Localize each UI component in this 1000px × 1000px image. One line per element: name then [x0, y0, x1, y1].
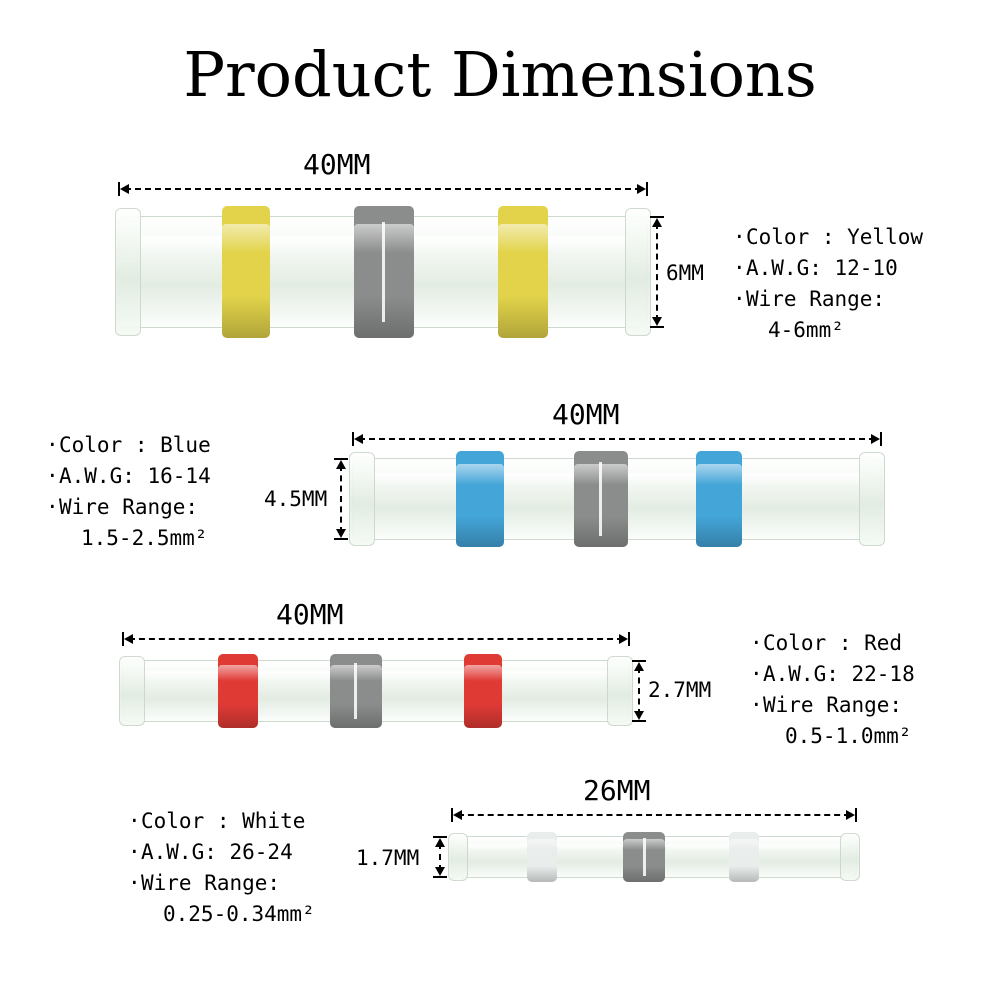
yellow-band-right: [498, 206, 548, 338]
spec-blue-wire-range-label: Wire Range:: [59, 495, 198, 519]
bullet-icon: ·: [46, 492, 59, 523]
blue-center-seam: [599, 462, 602, 536]
bullet-icon: ·: [750, 690, 763, 721]
bullet-icon: ·: [128, 837, 141, 868]
spec-yellow-color: Color : Yellow: [746, 225, 923, 249]
white-band-left: [527, 832, 557, 882]
blue-left-flare: [349, 452, 375, 545]
connector-red: [122, 660, 630, 722]
spec-white-wire-range-label: Wire Range:: [141, 871, 280, 895]
spec-blue-awg: A.W.G: 16-14: [59, 464, 211, 488]
white-length-label: 26MM: [583, 774, 650, 807]
spec-yellow-wire-range-value: 4-6mm²: [768, 318, 844, 342]
bullet-icon: ·: [46, 430, 59, 461]
blue-length-measure: [352, 432, 882, 446]
spec-red-awg: A.W.G: 22-18: [763, 662, 915, 686]
red-right-flare: [607, 656, 633, 727]
spec-yellow: ·Color : Yellow ·A.W.G: 12-10 ·Wire Rang…: [733, 222, 923, 346]
yellow-band-left: [222, 206, 270, 338]
blue-band-right: [696, 451, 742, 548]
bullet-icon: ·: [750, 659, 763, 690]
bullet-icon: ·: [128, 868, 141, 899]
red-length-label: 40MM: [276, 598, 343, 631]
white-left-flare: [448, 833, 468, 881]
spec-blue-wire-range-value: 1.5-2.5mm²: [81, 526, 207, 550]
spec-red-wire-range-value: 0.5-1.0mm²: [785, 724, 911, 748]
blue-band-left: [456, 451, 504, 548]
white-diameter-label: 1.7MM: [356, 846, 419, 870]
bullet-icon: ·: [750, 628, 763, 659]
connector-white: [451, 836, 857, 878]
spec-yellow-awg: A.W.G: 12-10: [746, 256, 898, 280]
yellow-diameter-label: 6MM: [666, 261, 704, 285]
blue-diameter-label: 4.5MM: [264, 487, 327, 511]
red-band-right: [464, 654, 502, 727]
blue-right-flare: [859, 452, 885, 545]
spec-red: ·Color : Red ·A.W.G: 22-18 ·Wire Range: …: [750, 628, 915, 752]
spec-yellow-wire-range-label: Wire Range:: [746, 287, 885, 311]
bullet-icon: ·: [733, 284, 746, 315]
connector-yellow: [118, 216, 648, 328]
red-left-flare: [119, 656, 145, 727]
white-right-flare: [840, 833, 860, 881]
product-dimensions-diagram: Product Dimensions 40MM 6MM ·Color : Yel…: [0, 0, 1000, 1000]
yellow-left-flare: [115, 208, 141, 336]
white-diameter-measure: [433, 836, 447, 878]
spec-red-wire-range-label: Wire Range:: [763, 693, 902, 717]
spec-red-color: Color : Red: [763, 631, 902, 655]
white-length-measure: [451, 808, 857, 822]
bullet-icon: ·: [733, 222, 746, 253]
red-diameter-measure: [632, 660, 646, 722]
yellow-length-label: 40MM: [303, 148, 370, 181]
yellow-right-flare: [625, 208, 651, 336]
yellow-center-seam: [382, 222, 385, 323]
yellow-diameter-measure: [650, 216, 664, 328]
page-title: Product Dimensions: [0, 44, 1000, 106]
connector-blue: [352, 458, 882, 540]
spec-blue: ·Color : Blue ·A.W.G: 16-14 ·Wire Range:…: [46, 430, 211, 554]
spec-white-awg: A.W.G: 26-24: [141, 840, 293, 864]
white-band-right: [729, 832, 759, 882]
spec-white: ·Color : White ·A.W.G: 26-24 ·Wire Range…: [128, 806, 315, 930]
red-band-left: [218, 654, 258, 727]
spec-blue-color: Color : Blue: [59, 433, 211, 457]
bullet-icon: ·: [128, 806, 141, 837]
blue-diameter-measure: [334, 458, 348, 540]
yellow-length-measure: [118, 182, 648, 196]
white-center-seam: [643, 838, 646, 876]
bullet-icon: ·: [46, 461, 59, 492]
red-center-seam: [354, 663, 357, 719]
red-length-measure: [122, 632, 630, 646]
blue-length-label: 40MM: [552, 398, 619, 431]
red-diameter-label: 2.7MM: [648, 678, 711, 702]
spec-white-wire-range-value: 0.25-0.34mm²: [163, 902, 315, 926]
spec-white-color: Color : White: [141, 809, 305, 833]
bullet-icon: ·: [733, 253, 746, 284]
